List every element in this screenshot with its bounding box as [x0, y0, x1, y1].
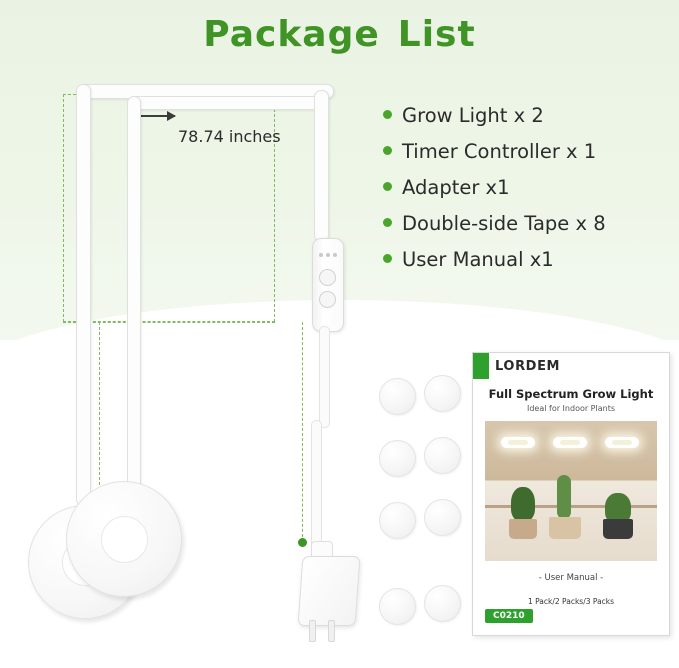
double-side-tape	[379, 440, 416, 477]
guide-line-horizontal	[63, 322, 275, 323]
grow-light-right-arm	[314, 90, 329, 242]
double-side-tape	[424, 437, 461, 474]
bullet-icon	[383, 110, 392, 119]
package-item-label: Double-side Tape x 8	[402, 212, 606, 235]
grow-light-left-arm	[76, 84, 91, 506]
measurement-label: 78.74 inches	[178, 127, 281, 146]
product-infographic: PackageList Grow Light x 2 Timer Control…	[0, 0, 679, 668]
manual-title: Full Spectrum Grow Light	[473, 387, 669, 401]
guide-node-icon	[298, 538, 307, 547]
double-side-tape	[424, 499, 461, 536]
grow-light-inner-top-bar	[127, 96, 324, 110]
manual-footer-label: - User Manual -	[473, 573, 669, 583]
cover-lamp-icon	[501, 437, 535, 448]
manual-product-code: C0210	[485, 609, 533, 623]
cover-lamp-icon	[605, 437, 639, 448]
package-list: Grow Light x 2 Timer Controller x 1 Adap…	[383, 104, 673, 284]
controller-led-icon	[333, 253, 337, 257]
double-side-tape	[424, 585, 461, 622]
manual-subtitle: Ideal for Indoor Plants	[473, 404, 669, 413]
package-item-label: Grow Light x 2	[402, 104, 544, 127]
guide-line-to-ring	[99, 322, 100, 490]
timer-controller[interactable]	[312, 238, 344, 332]
list-item: User Manual x1	[383, 248, 673, 271]
controller-led-icon	[319, 253, 323, 257]
controller-power-button[interactable]	[319, 269, 336, 286]
power-cord-upper	[319, 326, 330, 428]
manual-brand-label: LORDEM	[495, 359, 560, 374]
adapter-prong-icon	[309, 620, 316, 642]
cover-lamp-icon	[553, 437, 587, 448]
page-title-word-1: Package	[203, 14, 379, 55]
bullet-icon	[383, 254, 392, 263]
manual-brand-area: LORDEM	[489, 353, 669, 379]
double-side-tape	[379, 502, 416, 539]
cover-pot	[603, 519, 633, 539]
manual-packs-label: 1 Pack/2 Packs/3 Packs	[473, 597, 669, 606]
double-side-tape	[424, 375, 461, 412]
cover-pot	[509, 519, 537, 539]
cover-pot	[549, 517, 581, 539]
package-item-label: Adapter x1	[402, 176, 510, 199]
package-item-label: User Manual x1	[402, 248, 554, 271]
double-side-tape	[379, 588, 416, 625]
manual-cover-photo	[485, 421, 657, 561]
list-item: Adapter x1	[383, 176, 673, 199]
list-item: Double-side Tape x 8	[383, 212, 673, 235]
package-item-label: Timer Controller x 1	[402, 140, 596, 163]
adapter-prong-icon	[328, 620, 335, 642]
grow-light-inner-arm	[127, 96, 141, 514]
guide-line-to-adapter	[302, 322, 303, 542]
bullet-icon	[383, 182, 392, 191]
controller-mode-button[interactable]	[319, 291, 336, 308]
controller-led-icon	[326, 253, 330, 257]
double-side-tape	[379, 378, 416, 415]
list-item: Grow Light x 2	[383, 104, 673, 127]
power-cord-lower	[311, 420, 322, 552]
power-adapter	[298, 556, 361, 626]
cover-cactus	[557, 475, 571, 519]
page-title-word-2: List	[398, 14, 476, 55]
user-manual-card: LORDEM Full Spectrum Grow Light Ideal fo…	[472, 352, 670, 636]
ring-light-hole	[101, 516, 148, 563]
page-title: PackageList	[0, 14, 679, 55]
list-item: Timer Controller x 1	[383, 140, 673, 163]
cover-plant	[511, 487, 535, 521]
bullet-icon	[383, 218, 392, 227]
bullet-icon	[383, 146, 392, 155]
